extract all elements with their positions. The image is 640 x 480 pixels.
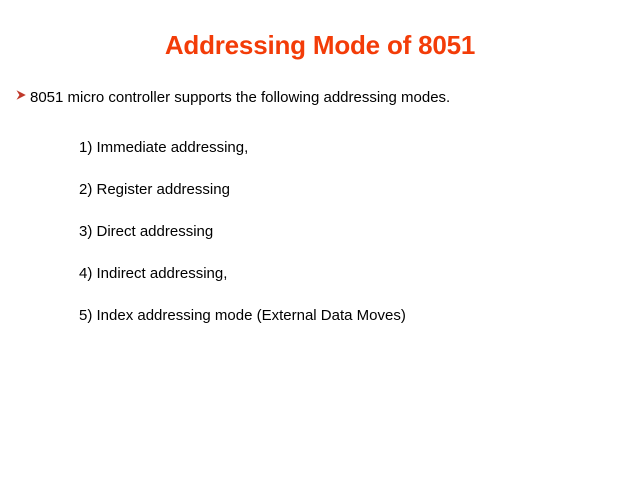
slide-body: 8051 micro controller supports the follo… xyxy=(0,88,640,108)
addressing-modes-list: 1) Immediate addressing, 2) Register add… xyxy=(79,138,619,348)
list-item: 3) Direct addressing xyxy=(79,222,619,264)
list-item: 1) Immediate addressing, xyxy=(79,138,619,180)
intro-bullet-row: 8051 micro controller supports the follo… xyxy=(0,88,640,108)
list-item: 4) Indirect addressing, xyxy=(79,264,619,306)
presentation-slide: Addressing Mode of 8051 8051 micro contr… xyxy=(0,0,640,480)
list-item: 2) Register addressing xyxy=(79,180,619,222)
page-title: Addressing Mode of 8051 xyxy=(0,30,640,61)
intro-bullet-text: 8051 micro controller supports the follo… xyxy=(30,88,640,108)
list-item: 5) Index addressing mode (External Data … xyxy=(79,306,619,348)
arrow-bullet-icon xyxy=(16,89,29,101)
